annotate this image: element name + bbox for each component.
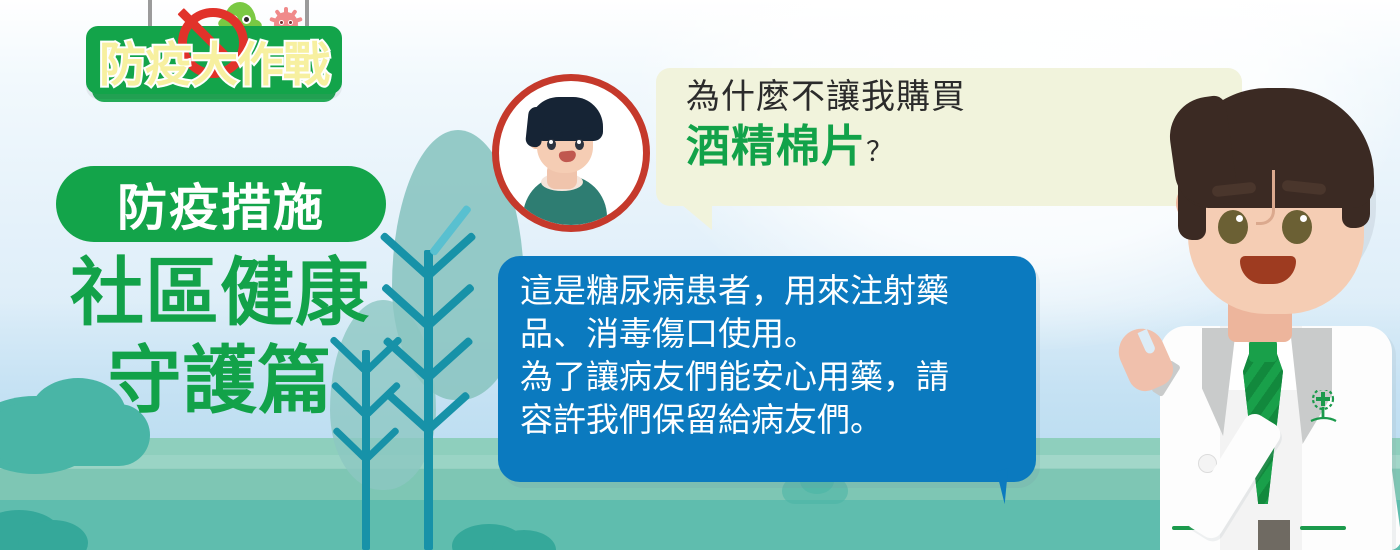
avatar-eye-right (575, 139, 584, 150)
pharmacist-illustration (1060, 40, 1400, 550)
measures-pill-label: 防疫措施 (117, 168, 325, 240)
measures-pill: 防疫措施 (56, 166, 386, 242)
question-bubble-tail (662, 200, 712, 230)
pharmacist-eye-right (1282, 210, 1312, 244)
answer-bubble-text: 這是糖尿病患者，用來注射藥 品、消毒傷口使用。 為了讓病友們能安心用藥，請 容許… (520, 270, 1030, 442)
pharmacist-tie-knot (1249, 340, 1277, 362)
pharmacist-eye-left (1218, 210, 1248, 244)
page-title-line1: 社區健康 (40, 256, 400, 330)
answer-line-2: 品、消毒傷口使用。 (520, 313, 1030, 356)
infographic-canvas: 防疫大作戰 防疫措施 社區健康 守護篇 為什麼不讓我購買 酒精棉片？ 這是糖尿病… (0, 0, 1400, 550)
page-title-line2: 守護篇 (40, 344, 400, 418)
answer-line-1: 這是糖尿病患者，用來注射藥 (520, 270, 1030, 313)
virus-spike (284, 7, 288, 14)
banner-title: 防疫大作戰 (86, 22, 342, 98)
coat-pocket-line-right (1300, 526, 1346, 530)
tree-trunk (424, 250, 433, 550)
pharmacist-trousers (1258, 520, 1290, 550)
answer-line-3: 為了讓病友們能安心用藥，請 (520, 356, 1030, 399)
pharmacy-tree-logo (1307, 390, 1339, 426)
question-mark: ？ (866, 137, 894, 167)
question-highlight: 酒精棉片 (686, 122, 866, 171)
angry-boy-avatar (492, 74, 650, 232)
answer-line-4: 容許我們保留給病友們。 (520, 399, 1030, 442)
avatar-eye-left (547, 139, 556, 150)
pharmacist-nose (1256, 170, 1275, 225)
